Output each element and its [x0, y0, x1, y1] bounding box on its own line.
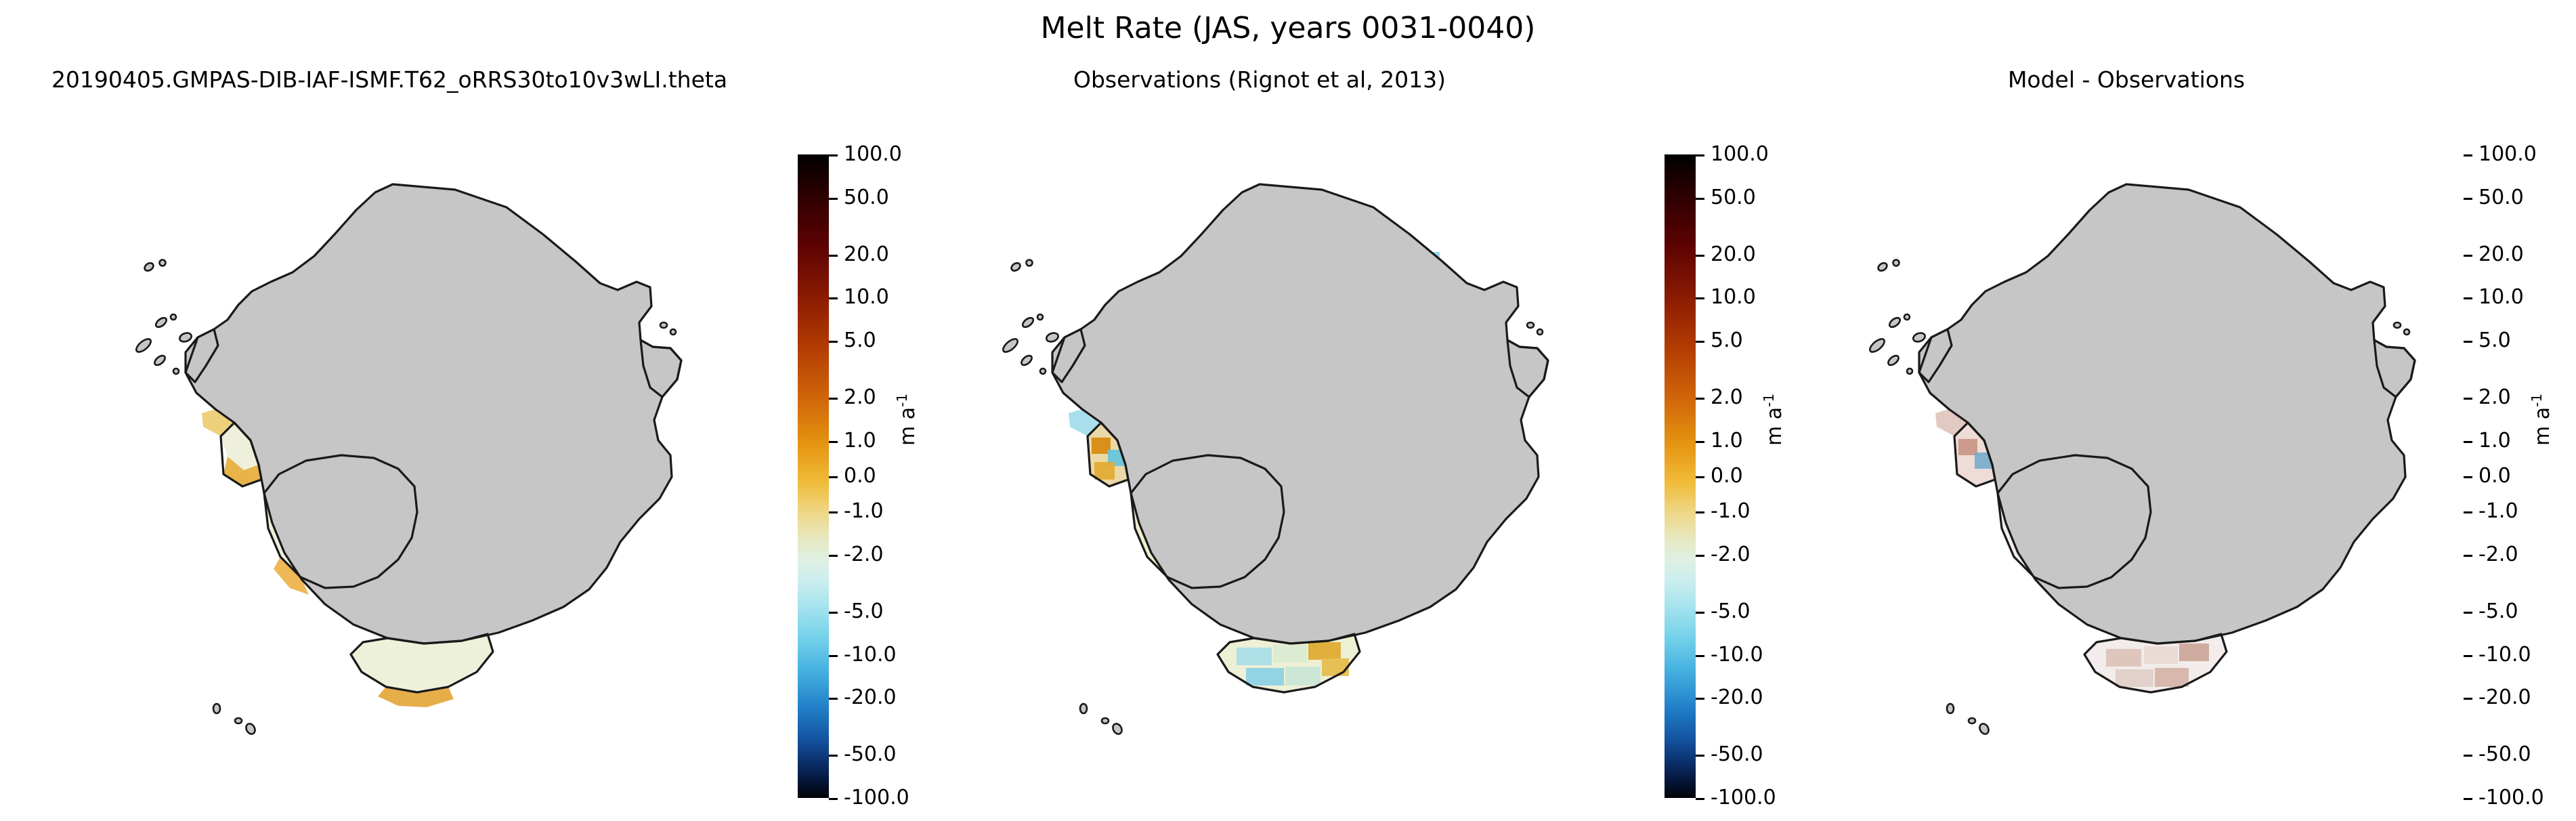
colorbar-tick-line	[829, 755, 838, 757]
antarctica-map-difference	[1774, 122, 2472, 806]
colorbar-tick-label: -50.0	[844, 742, 897, 767]
colorbar-tick-line	[829, 341, 838, 343]
colorbar-tick-line	[829, 798, 838, 800]
colorbar-tick-label: 20.0	[1711, 242, 1756, 268]
colorbar-tick-line	[1696, 698, 1704, 700]
colorbar-tick-label: -2.0	[1711, 542, 1751, 568]
colorbar-label-difference: m a-1	[2529, 394, 2554, 446]
colorbar-tick-line	[829, 154, 838, 156]
colorbar-tick-line	[1696, 798, 1704, 800]
colorbar-ticks-difference: 100.050.020.010.05.02.01.00.0-1.0-2.0-5.…	[2464, 154, 2576, 798]
colorbar-tick-line	[1696, 655, 1704, 657]
colorbar-tick-line	[2464, 398, 2472, 400]
colorbar-tick-label: -5.0	[844, 599, 884, 625]
colorbar-tick-label: 0.0	[2478, 463, 2511, 489]
colorbar-ticks-model: 100.050.020.010.05.02.01.00.0-1.0-2.0-5.…	[829, 154, 953, 798]
colorbar-tick-line	[2464, 341, 2472, 343]
colorbar-gradient-difference	[2432, 154, 2464, 798]
colorbar-tick-label: 10.0	[1711, 285, 1756, 310]
colorbar-tick-line	[1696, 398, 1704, 400]
colorbar-tick-line	[2464, 441, 2472, 443]
colorbar-tick-line	[1696, 555, 1704, 557]
colorbar-tick-label: -1.0	[2478, 499, 2518, 524]
colorbar-gradient-model	[798, 154, 829, 798]
map-panel-model[interactable]	[41, 122, 738, 806]
colorbar-tick-label: -10.0	[2478, 642, 2531, 668]
colorbar-tick-label: 100.0	[2478, 142, 2537, 167]
colorbar-tick-line	[2464, 154, 2472, 156]
colorbar-tick-label: 50.0	[2478, 185, 2524, 211]
colorbar-tick-line	[1696, 198, 1704, 200]
colorbar-tick-label: 20.0	[2478, 242, 2524, 268]
colorbar-tick-line	[2464, 198, 2472, 200]
panel-title-observations: Observations (Rignot et al, 2013)	[867, 66, 1652, 93]
colorbar-tick-label: 5.0	[844, 328, 876, 354]
colorbar-tick-label: -5.0	[1711, 599, 1751, 625]
colorbar-tick-line	[829, 198, 838, 200]
colorbar-tick-label: 50.0	[844, 185, 889, 211]
colorbar-tick-line	[2464, 297, 2472, 299]
colorbar-tick-label: -2.0	[2478, 542, 2518, 568]
colorbar-tick-label: -5.0	[2478, 599, 2518, 625]
colorbar-difference[interactable]: 100.050.020.010.05.02.01.00.0-1.0-2.0-5.…	[2432, 154, 2576, 798]
colorbar-gradient-observations	[1665, 154, 1696, 798]
colorbar-tick-label: -50.0	[2478, 742, 2531, 767]
colorbar-tick-label: 0.0	[1711, 463, 1743, 489]
colorbar-label-observations: m a-1	[1761, 394, 1786, 446]
colorbar-tick-line	[1696, 755, 1704, 757]
colorbar-tick-label: 1.0	[844, 428, 876, 454]
colorbar-tick-line	[1696, 341, 1704, 343]
colorbar-model[interactable]: 100.050.020.010.05.02.01.00.0-1.0-2.0-5.…	[798, 154, 953, 798]
map-panel-difference[interactable]	[1774, 122, 2472, 806]
colorbar-tick-label: -10.0	[1711, 642, 1763, 668]
colorbar-tick-line	[1696, 511, 1704, 513]
colorbar-tick-line	[1696, 441, 1704, 443]
panel-title-model: 20190405.GMPAS-DIB-IAF-ISMF.T62_oRRS30to…	[0, 66, 779, 93]
colorbar-tick-label: -100.0	[1711, 785, 1776, 811]
colorbar-tick-label: -50.0	[1711, 742, 1763, 767]
colorbar-tick-line	[2464, 255, 2472, 257]
colorbar-tick-label: 0.0	[844, 463, 876, 489]
colorbar-tick-label: -100.0	[2478, 785, 2544, 811]
figure-canvas: Melt Rate (JAS, years 0031-0040) 2019040…	[0, 0, 2576, 821]
colorbar-tick-line	[829, 511, 838, 513]
colorbar-tick-line	[2464, 655, 2472, 657]
colorbar-tick-line	[829, 655, 838, 657]
colorbar-tick-label: 2.0	[2478, 385, 2511, 410]
colorbar-tick-line	[829, 476, 838, 478]
colorbar-ticks-observations: 100.050.020.010.05.02.01.00.0-1.0-2.0-5.…	[1696, 154, 1820, 798]
colorbar-tick-line	[2464, 698, 2472, 700]
colorbar-tick-label: 2.0	[1711, 385, 1743, 410]
colorbar-tick-label: 50.0	[1711, 185, 1756, 211]
colorbar-tick-line	[2464, 555, 2472, 557]
colorbar-tick-label: 10.0	[2478, 285, 2524, 310]
colorbar-tick-label: 10.0	[844, 285, 889, 310]
colorbar-tick-label: -1.0	[844, 499, 884, 524]
colorbar-tick-line	[829, 398, 838, 400]
colorbar-observations[interactable]: 100.050.020.010.05.02.01.00.0-1.0-2.0-5.…	[1665, 154, 1820, 798]
colorbar-tick-label: 5.0	[1711, 328, 1743, 354]
colorbar-tick-line	[1696, 255, 1704, 257]
colorbar-tick-label: 1.0	[2478, 428, 2511, 454]
colorbar-tick-label: 1.0	[1711, 428, 1743, 454]
colorbar-tick-line	[829, 555, 838, 557]
colorbar-tick-line	[829, 255, 838, 257]
colorbar-tick-label: -10.0	[844, 642, 897, 668]
colorbar-tick-label: -20.0	[1711, 685, 1763, 711]
colorbar-label-model: m a-1	[894, 394, 920, 446]
colorbar-tick-label: -20.0	[844, 685, 897, 711]
colorbar-tick-label: -2.0	[844, 542, 884, 568]
colorbar-tick-label: 100.0	[844, 142, 902, 167]
colorbar-tick-line	[829, 698, 838, 700]
colorbar-tick-line	[829, 441, 838, 443]
map-panel-observations[interactable]	[907, 122, 1605, 806]
antarctica-map-observations	[907, 122, 1605, 806]
colorbar-tick-label: -1.0	[1711, 499, 1751, 524]
figure-suptitle: Melt Rate (JAS, years 0031-0040)	[0, 11, 2576, 45]
colorbar-tick-label: 5.0	[2478, 328, 2511, 354]
colorbar-tick-label: -100.0	[844, 785, 909, 811]
colorbar-tick-line	[829, 612, 838, 614]
colorbar-tick-label: 100.0	[1711, 142, 1769, 167]
colorbar-tick-line	[2464, 612, 2472, 614]
colorbar-tick-line	[1696, 476, 1704, 478]
colorbar-tick-line	[1696, 297, 1704, 299]
colorbar-tick-line	[2464, 476, 2472, 478]
colorbar-tick-label: 2.0	[844, 385, 876, 410]
colorbar-tick-line	[2464, 755, 2472, 757]
antarctica-map-model	[41, 122, 738, 806]
colorbar-tick-label: -20.0	[2478, 685, 2531, 711]
colorbar-tick-line	[1696, 154, 1704, 156]
colorbar-tick-line	[2464, 798, 2472, 800]
colorbar-tick-line	[1696, 612, 1704, 614]
panel-title-difference: Model - Observations	[1734, 66, 2519, 93]
colorbar-tick-label: 20.0	[844, 242, 889, 268]
colorbar-tick-line	[2464, 511, 2472, 513]
colorbar-tick-line	[829, 297, 838, 299]
